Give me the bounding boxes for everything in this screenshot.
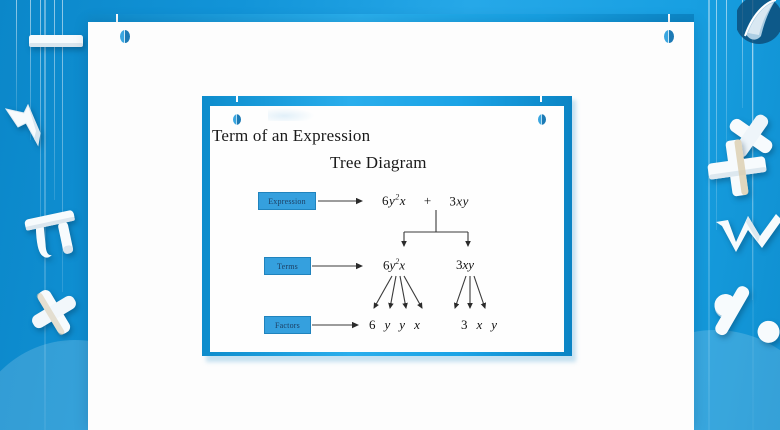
zigzag-symbol xyxy=(714,212,780,256)
expression-left-term: 6y2x xyxy=(382,193,406,208)
expression-row: 6y2x + 3xy xyxy=(382,193,469,209)
factor-item: x xyxy=(414,317,421,332)
page-pin-right xyxy=(664,30,674,43)
label-expression: Expression xyxy=(258,192,316,210)
slide-subtitle: Tree Diagram xyxy=(330,153,427,173)
swoosh-logo[interactable] xyxy=(737,0,780,52)
slide-cloud-decoration xyxy=(268,108,314,121)
term-right: 3xy xyxy=(456,257,474,273)
multiply-symbol xyxy=(24,283,84,341)
page-pin-left xyxy=(120,30,130,43)
factor-item: 3 xyxy=(461,317,469,332)
pi-symbol xyxy=(24,208,86,264)
label-terms: Terms xyxy=(264,257,311,275)
term-left: 6y2x xyxy=(383,257,405,273)
radical-two-symbol xyxy=(4,103,60,153)
hanging-string xyxy=(16,0,17,112)
slide-frame-notch xyxy=(236,96,238,102)
slide-pin-right xyxy=(538,114,546,124)
factor-item: y xyxy=(385,317,392,332)
factor-item: 6 xyxy=(369,317,377,332)
slide-title: Term of an Expression xyxy=(212,126,370,146)
expression-right-term: 3xy xyxy=(449,193,469,208)
expression-operator: + xyxy=(424,193,432,208)
hanging-string xyxy=(54,0,55,200)
label-factors: Factors xyxy=(264,316,311,334)
slide-frame-notch xyxy=(540,96,542,102)
percent-symbol xyxy=(712,286,780,350)
minus-bar-symbol xyxy=(28,33,86,51)
factor-item: y xyxy=(491,317,498,332)
factor-item: x xyxy=(477,317,484,332)
slide-pin-left xyxy=(233,114,241,124)
factor-item: y xyxy=(399,317,406,332)
factors-left: 6yyx xyxy=(369,317,421,333)
factors-right: 3xy xyxy=(461,317,498,333)
plus-symbol xyxy=(700,136,772,200)
